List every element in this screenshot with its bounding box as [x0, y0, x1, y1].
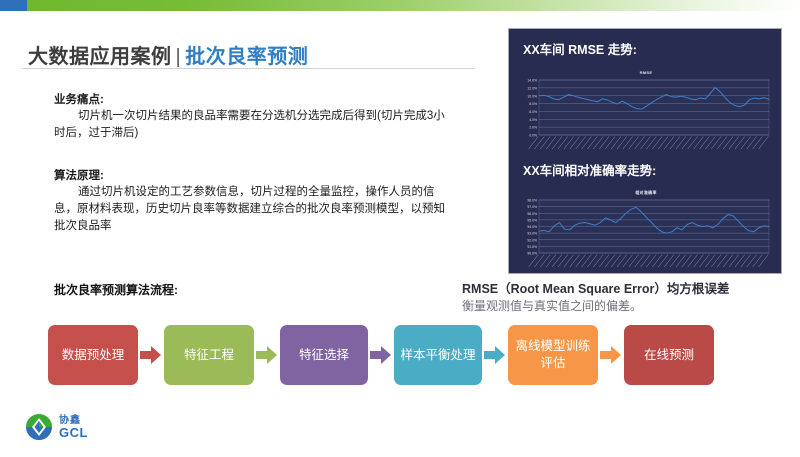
section-algorithm-principle-body: 通过切片机设定的工艺参数信息，切片过程的全量监控，操作人员的信息，原材料表现，历…	[54, 184, 454, 235]
svg-text:92.0%: 92.0%	[527, 238, 537, 242]
chart-rmse-title: RMSE	[517, 69, 775, 77]
flow-section-title: 批次良率预测算法流程:	[54, 281, 178, 298]
chart2-svg: 98.0%97.0%96.0%95.0%94.0%93.0%92.0%91.0%…	[517, 197, 775, 271]
svg-text:14.0%: 14.0%	[527, 79, 537, 83]
logo-text-en: GCL	[59, 427, 88, 439]
svg-text:8.0%: 8.0%	[529, 102, 537, 106]
chart-panel-heading-accuracy: XX车间相对准确率走势:	[509, 160, 656, 179]
top-bar-green-gradient	[27, 0, 800, 11]
section-pain-point-heading: 业务痛点:	[54, 92, 454, 108]
svg-text:4.0%: 4.0%	[529, 118, 537, 122]
chart1-svg: 14.0%12.0%10.0%8.0%6.0%4.0%2.0%0.0%—————…	[517, 77, 775, 153]
flow-arrow-2	[254, 345, 280, 365]
flow-step-6[interactable]: 在线预测	[624, 325, 714, 385]
page-title-accent: 批次良率预测	[185, 46, 308, 68]
title-divider	[22, 68, 475, 69]
flow-step-label: 特征选择	[299, 347, 349, 364]
chart-panel-heading-rmse: XX车间 RMSE 走势:	[509, 39, 637, 58]
flow-step-label: 样本平衡处理	[400, 347, 475, 364]
svg-text:2.0%: 2.0%	[529, 126, 537, 130]
flow-step-3[interactable]: 特征选择	[280, 325, 368, 385]
svg-text:97.0%: 97.0%	[527, 205, 537, 209]
gcl-logo-icon	[24, 412, 54, 442]
section-algorithm-principle-heading: 算法原理:	[54, 168, 454, 184]
svg-text:91.0%: 91.0%	[527, 245, 537, 249]
svg-text:94.0%: 94.0%	[527, 225, 537, 229]
flow-step-1[interactable]: 数据预处理	[48, 325, 138, 385]
rmse-caption-sub: 衡量观测值与真实值之间的偏差。	[462, 298, 792, 315]
page-title: 大数据应用案例|批次良率预测	[28, 40, 308, 69]
flow-step-5[interactable]: 离线模型训练评估	[508, 325, 598, 385]
svg-text:6.0%: 6.0%	[529, 110, 537, 114]
chart-relative-accuracy-title: 相对准确率	[517, 189, 775, 197]
section-pain-point: 业务痛点: 切片机一次切片结果的良品率需要在分选机分选完成后得到(切片完成3小时…	[54, 92, 454, 142]
company-logo: 协鑫 GCL	[24, 412, 88, 442]
flow-step-label: 离线模型训练评估	[512, 338, 594, 372]
logo-text: 协鑫 GCL	[59, 415, 88, 439]
svg-text:10.0%: 10.0%	[527, 94, 537, 98]
top-accent-bar	[0, 0, 800, 11]
rmse-caption-main: RMSE（Root Mean Square Error）均方根误差	[462, 281, 792, 298]
algorithm-flow-diagram: 数据预处理特征工程特征选择样本平衡处理离线模型训练评估在线预测	[48, 322, 780, 388]
svg-text:98.0%: 98.0%	[527, 199, 537, 203]
chart-relative-accuracy: 相对准确率 98.0%97.0%96.0%95.0%94.0%93.0%92.0…	[517, 189, 775, 271]
svg-text:96.0%: 96.0%	[527, 212, 537, 216]
flow-step-label: 在线预测	[644, 347, 694, 364]
chart-rmse: RMSE 14.0%12.0%10.0%8.0%6.0%4.0%2.0%0.0%…	[517, 69, 775, 153]
chart-panel: XX车间 RMSE 走势: RMSE 14.0%12.0%10.0%8.0%6.…	[508, 28, 782, 274]
svg-text:93.0%: 93.0%	[527, 232, 537, 236]
section-pain-point-body: 切片机一次切片结果的良品率需要在分选机分选完成后得到(切片完成3小时后，过于滞后…	[54, 108, 454, 142]
flow-step-4[interactable]: 样本平衡处理	[394, 325, 482, 385]
flow-arrow-5	[598, 345, 624, 365]
flow-arrow-3	[368, 345, 394, 365]
svg-text:12.0%: 12.0%	[527, 86, 537, 90]
section-algorithm-principle: 算法原理: 通过切片机设定的工艺参数信息，切片过程的全量监控，操作人员的信息，原…	[54, 168, 454, 235]
page-title-main: 大数据应用案例	[28, 46, 172, 68]
svg-text:95.0%: 95.0%	[527, 218, 537, 222]
top-bar-blue-block	[0, 0, 27, 11]
flow-step-2[interactable]: 特征工程	[164, 325, 254, 385]
flow-arrow-1	[138, 345, 164, 365]
page-title-separator: |	[176, 46, 182, 68]
flow-step-label: 特征工程	[184, 347, 234, 364]
rmse-caption: RMSE（Root Mean Square Error）均方根误差 衡量观测值与…	[462, 281, 792, 315]
flow-step-label: 数据预处理	[62, 347, 125, 364]
flow-arrow-4	[482, 345, 508, 365]
